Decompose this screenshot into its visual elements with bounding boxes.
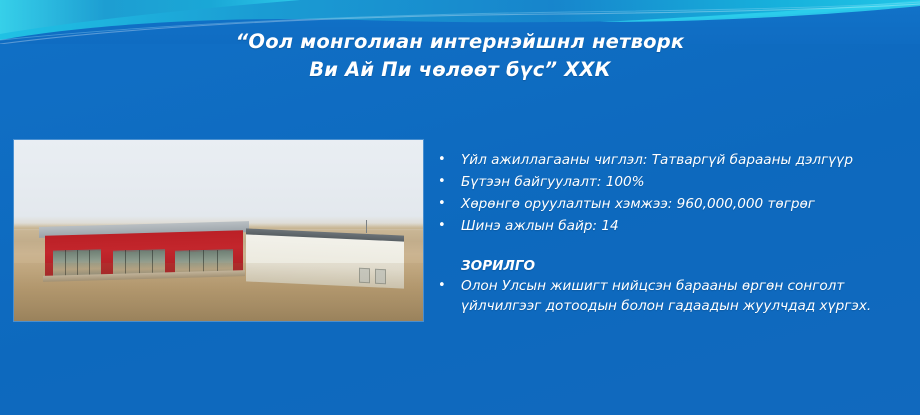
goal-line-2: үйлчилгээг дотоодын болон гадаадын жуулч… [461, 296, 908, 316]
goal-list-item-label: Олон Улсын жишигт нийцсэн барааны өргөн … [461, 276, 908, 316]
list-item-label: Шинэ ажлын байр: 14 [461, 216, 908, 236]
goal-heading: ЗОРИЛГО [461, 256, 908, 276]
roof-antenna [366, 220, 367, 233]
list-item-label: Хөрөнгө оруулалтын хэмжээ: 960,000,000 т… [461, 194, 908, 214]
list-item-label: Бүтээн байгуулалт: 100% [461, 172, 908, 192]
slide-title: “Оол монголиан интернэйшнл нетворк Ви Ай… [0, 28, 920, 84]
bullet-icon: • [430, 276, 461, 296]
list-item: • Үйл ажиллагааны чиглэл: Татваргүй бара… [430, 150, 908, 170]
goal-line-1: Олон Улсын жишигт нийцсэн барааны өргөн … [461, 276, 908, 296]
goal-list-item: • Олон Улсын жишигт нийцсэн барааны өргө… [430, 276, 908, 316]
bullet-icon: • [430, 194, 461, 214]
building-photo [14, 140, 423, 321]
bullet-icon: • [430, 216, 461, 236]
photo-scene [14, 140, 423, 321]
list-item: • Шинэ ажлын байр: 14 [430, 216, 908, 236]
list-item: • Хөрөнгө оруулалтын хэмжээ: 960,000,000… [430, 194, 908, 214]
bullet-icon: • [430, 150, 461, 170]
list-item-label: Үйл ажиллагааны чиглэл: Татваргүй бараан… [461, 150, 908, 170]
title-line-2: Ви Ай Пи чөлөөт бүс” ХХК [0, 56, 920, 84]
title-line-1: “Оол монголиан интернэйшнл нетворк [0, 28, 920, 56]
foreground-ground [14, 263, 423, 321]
bullet-icon: • [430, 172, 461, 192]
list-item: • Бүтээн байгуулалт: 100% [430, 172, 908, 192]
content-body: • Үйл ажиллагааны чиглэл: Татваргүй бара… [430, 150, 908, 318]
presentation-slide: “Оол монголиан интернэйшнл нетворк Ви Ай… [0, 0, 920, 415]
